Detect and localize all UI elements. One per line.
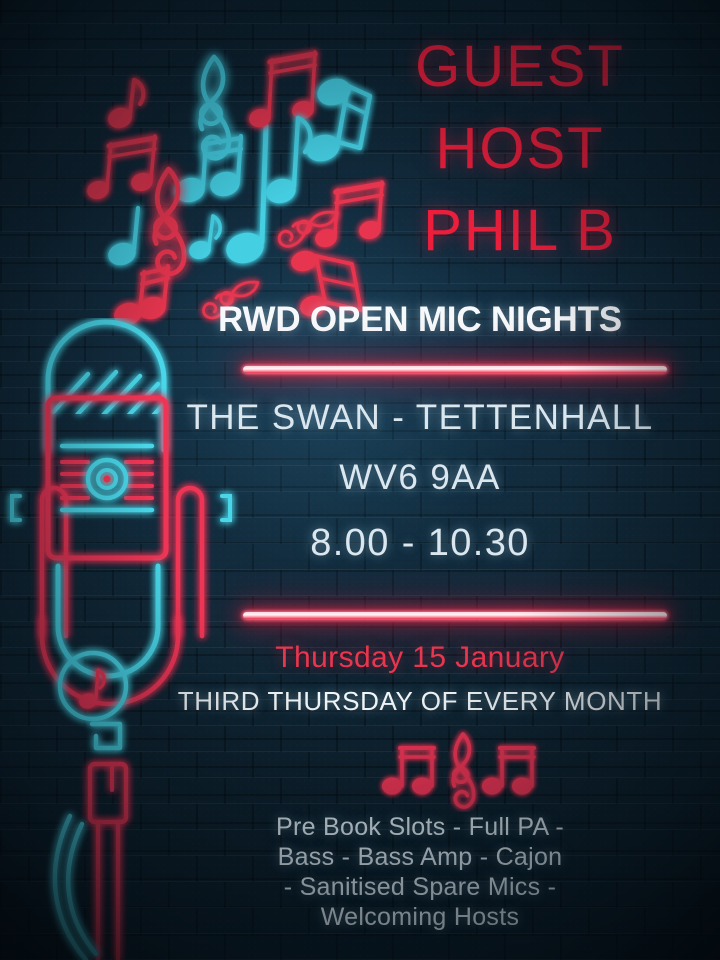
vignette-overlay bbox=[0, 0, 720, 960]
poster-canvas: GUEST HOST PHIL B RWD OPEN MIC NIGHTS TH… bbox=[0, 0, 720, 960]
